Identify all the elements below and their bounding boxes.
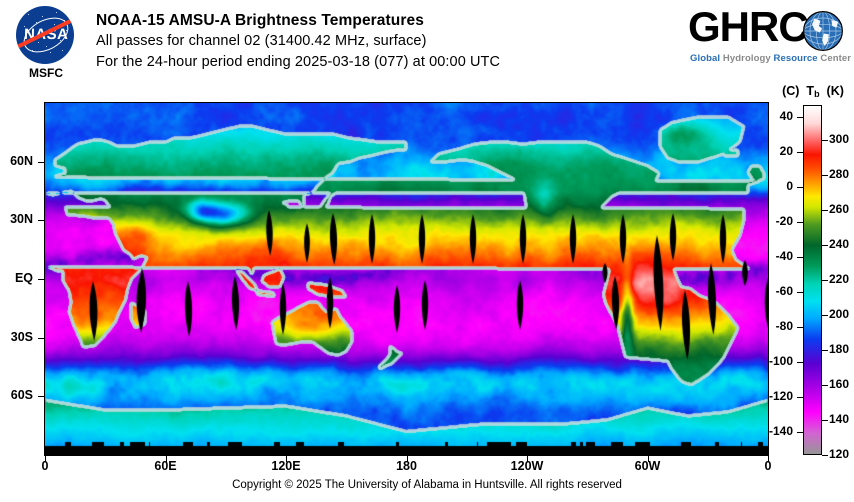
colorbar-kelvin-label: 200	[829, 307, 854, 321]
colorbar-tick-left	[797, 432, 803, 433]
lat-tick	[38, 162, 44, 163]
colorbar[interactable]	[803, 105, 822, 455]
colorbar-celsius-label: -40	[759, 249, 793, 263]
lon-label: 0	[748, 459, 788, 473]
colorbar-kelvin-label: 260	[829, 202, 854, 216]
colorbar-tick-left	[797, 397, 803, 398]
ghrc-tagline-word: Global	[690, 53, 723, 64]
lon-label: 120E	[266, 459, 306, 473]
lat-tick	[38, 396, 44, 397]
colorbar-tick-left	[797, 327, 803, 328]
colorbar-kelvin-unit: (K)	[827, 84, 844, 98]
lon-label: 0	[25, 459, 65, 473]
colorbar-celsius-label: -120	[759, 389, 793, 403]
star-dot	[28, 14, 29, 15]
lat-label: EQ	[0, 271, 33, 285]
star-dot	[42, 16, 43, 17]
colorbar-tick-right	[822, 350, 828, 351]
colorbar-gradient[interactable]	[803, 105, 822, 455]
star-dot	[62, 50, 63, 51]
ghrc-wordmark: GHRC	[688, 4, 808, 50]
lat-tick	[38, 220, 44, 221]
colorbar-tick-right	[822, 315, 828, 316]
lat-label: 30S	[0, 330, 33, 344]
colorbar-tick-right	[822, 455, 828, 456]
colorbar-tick-left	[797, 222, 803, 223]
visualization-page: NASA MSFC NOAA-15 AMSU-A Brightness Temp…	[0, 0, 854, 502]
colorbar-kelvin-label: 120	[829, 447, 854, 461]
colorbar-celsius-label: 0	[759, 179, 793, 193]
colorbar-celsius-unit: (C)	[782, 84, 799, 98]
lon-label: 120W	[507, 459, 547, 473]
colorbar-tick-right	[822, 420, 828, 421]
colorbar-kelvin-label: 180	[829, 342, 854, 356]
colorbar-tick-left	[797, 257, 803, 258]
ghrc-logo: GHRC Global Hydrology Resource Center	[688, 6, 846, 72]
page-title: NOAA-15 AMSU-A Brightness Temperatures	[96, 10, 676, 31]
colorbar-kelvin-label: 160	[829, 377, 854, 391]
colorbar-celsius-label: -80	[759, 319, 793, 333]
colorbar-tick-right	[822, 175, 828, 176]
ghrc-tagline: Global Hydrology Resource Center	[690, 53, 851, 64]
nasa-meatball-icon: NASA	[16, 6, 74, 64]
colorbar-celsius-label: -100	[759, 354, 793, 368]
star-dot	[50, 52, 51, 53]
lat-label: 60N	[0, 154, 33, 168]
colorbar-tick-right	[822, 140, 828, 141]
colorbar-kelvin-label: 280	[829, 167, 854, 181]
period-subtitle: For the 24-hour period ending 2025-03-18…	[96, 52, 676, 73]
colorbar-tick-left	[797, 117, 803, 118]
colorbar-celsius-label: 20	[759, 144, 793, 158]
colorbar-tick-left	[797, 362, 803, 363]
star-dot	[56, 12, 57, 13]
lat-tick	[38, 279, 44, 280]
nasa-logo: NASA MSFC	[10, 6, 82, 78]
colorbar-celsius-label: -20	[759, 214, 793, 228]
colorbar-header: (C) Tb (K)	[772, 84, 854, 98]
channel-subtitle: All passes for channel 02 (31400.42 MHz,…	[96, 31, 676, 52]
colorbar-kelvin-label: 140	[829, 412, 854, 426]
msfc-label: MSFC	[10, 66, 82, 80]
copyright-notice: Copyright © 2025 The University of Alaba…	[0, 479, 854, 491]
globe-icon	[802, 10, 844, 52]
colorbar-tick-left	[797, 292, 803, 293]
ghrc-tagline-word: Center	[820, 53, 851, 64]
lat-tick	[38, 338, 44, 339]
colorbar-celsius-label: -140	[759, 424, 793, 438]
colorbar-celsius-label: 40	[759, 109, 793, 123]
lat-label: 30N	[0, 212, 33, 226]
colorbar-kelvin-label: 240	[829, 237, 854, 251]
colorbar-tick-right	[822, 385, 828, 386]
title-block: NOAA-15 AMSU-A Brightness Temperatures A…	[96, 10, 676, 73]
colorbar-tick-left	[797, 152, 803, 153]
ghrc-tagline-word: Hydrology	[723, 53, 774, 64]
brightness-temperature-map[interactable]	[45, 103, 768, 455]
ghrc-tagline-word: Resource	[774, 53, 821, 64]
lon-label: 60W	[628, 459, 668, 473]
colorbar-tick-right	[822, 280, 828, 281]
map-raster[interactable]	[45, 103, 768, 455]
lat-label: 60S	[0, 388, 33, 402]
colorbar-tick-right	[822, 210, 828, 211]
lon-label: 60E	[146, 459, 186, 473]
colorbar-kelvin-label: 220	[829, 272, 854, 286]
colorbar-quantity-label: Tb	[803, 84, 823, 98]
colorbar-tick-right	[822, 245, 828, 246]
colorbar-tick-left	[797, 187, 803, 188]
colorbar-kelvin-label: 300	[829, 132, 854, 146]
colorbar-celsius-label: -60	[759, 284, 793, 298]
lon-label: 180	[387, 459, 427, 473]
